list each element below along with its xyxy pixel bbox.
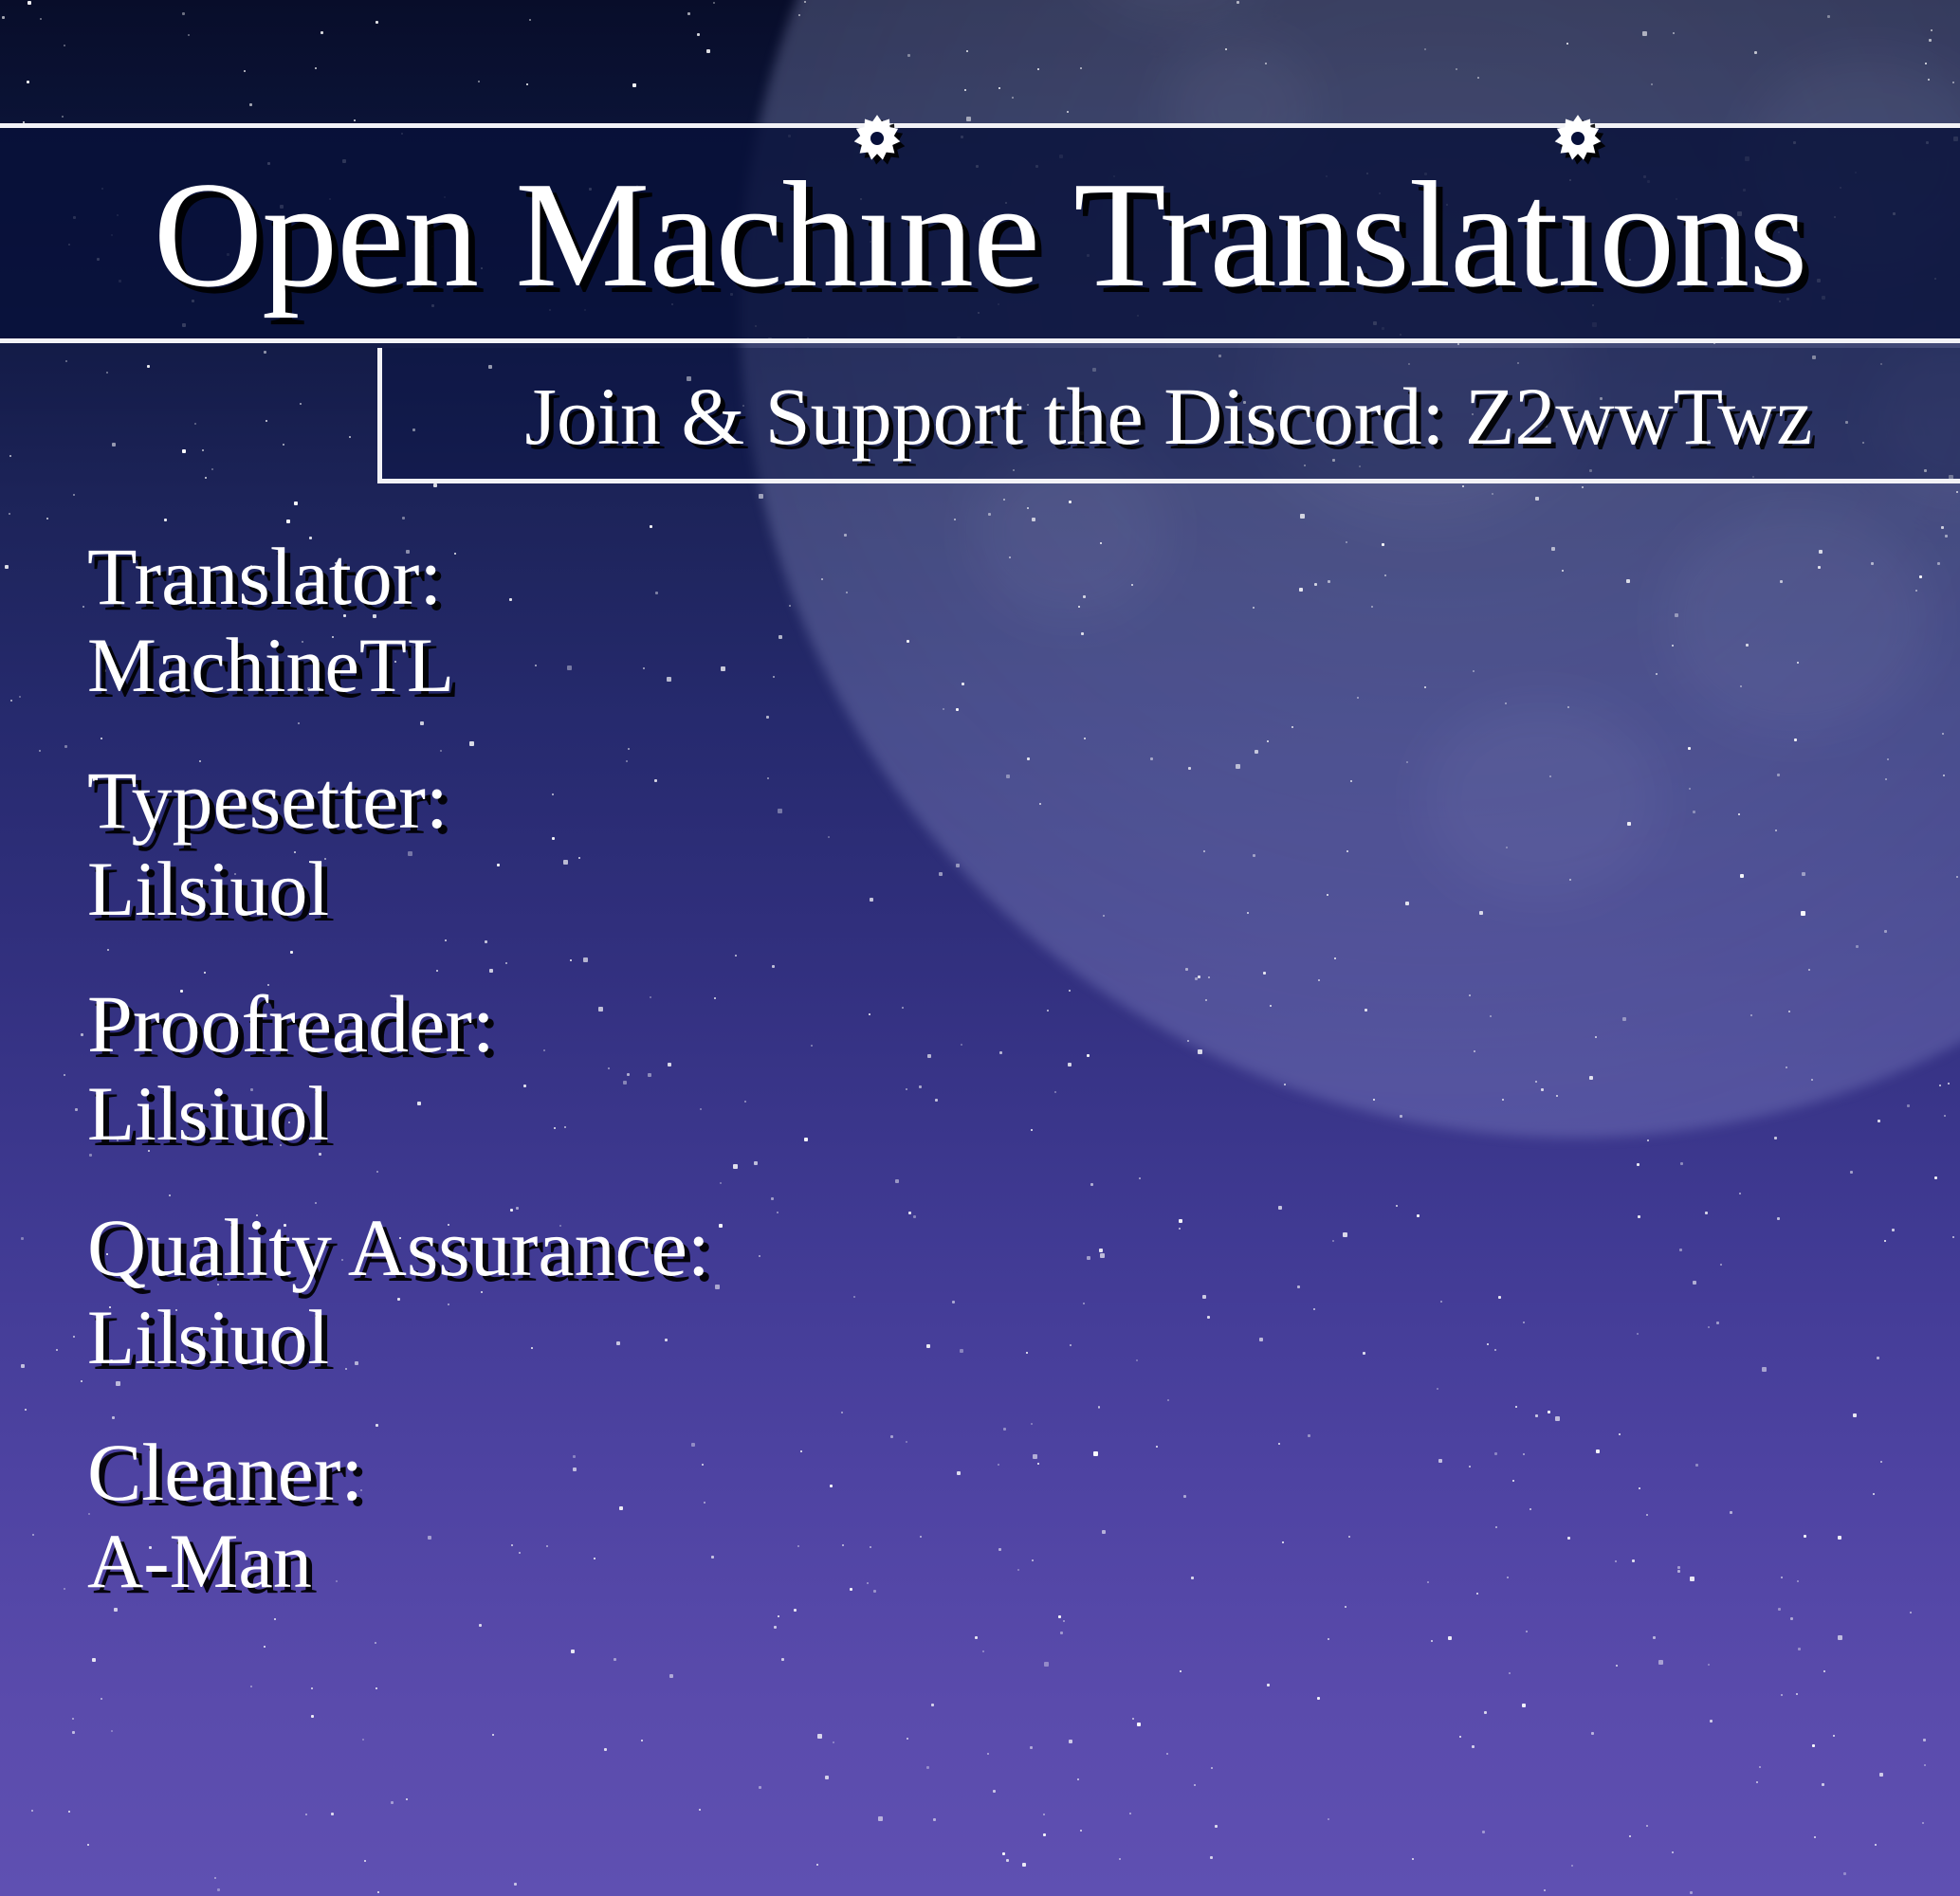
credit-name-value: Lilsiuol <box>87 846 1225 933</box>
credit-entry-proofreader: Proofreader: Lilsiuol <box>87 978 1225 1157</box>
page-title-part-1: Open Mach <box>154 158 857 310</box>
page-title-part-3: ons <box>1599 158 1806 310</box>
credit-role-label: Translator: <box>87 531 1225 622</box>
credits-poster: Open Machıne Translatıons Join & Support… <box>0 0 1960 1896</box>
page-title: Open Machıne Translatıons <box>0 116 1960 353</box>
credit-name-value: A-Man <box>87 1518 1225 1605</box>
credit-role-label: Typesetter: <box>87 755 1225 846</box>
gear-dotted-i-1: ı <box>856 158 897 310</box>
credit-entry-quality-assurance: Quality Assurance: Lilsiuol <box>87 1202 1225 1380</box>
credit-role-label: Proofreader: <box>87 978 1225 1069</box>
page-title-part-2: ne Translat <box>898 158 1558 310</box>
credit-entry-cleaner: Cleaner: A-Man <box>87 1427 1225 1605</box>
credit-role-label: Cleaner: <box>87 1427 1225 1518</box>
credit-name-value: Lilsiuol <box>87 1070 1225 1158</box>
gear-icon <box>852 113 903 164</box>
gear-icon <box>1552 113 1603 164</box>
credit-role-label: Quality Assurance: <box>87 1202 1225 1293</box>
credit-name-value: Lilsiuol <box>87 1294 1225 1381</box>
credit-entry-translator: Translator: MachineTL <box>87 531 1225 709</box>
credit-entry-typesetter: Typesetter: Lilsiuol <box>87 755 1225 933</box>
discord-invite-text[interactable]: Join & Support the Discord: Z2wwTwz <box>377 348 1960 483</box>
credits-list: Translator: MachineTL Typesetter: Lilsiu… <box>87 531 1225 1650</box>
gear-dotted-i-2: ı <box>1558 158 1599 310</box>
credit-name-value: MachineTL <box>87 622 1225 709</box>
